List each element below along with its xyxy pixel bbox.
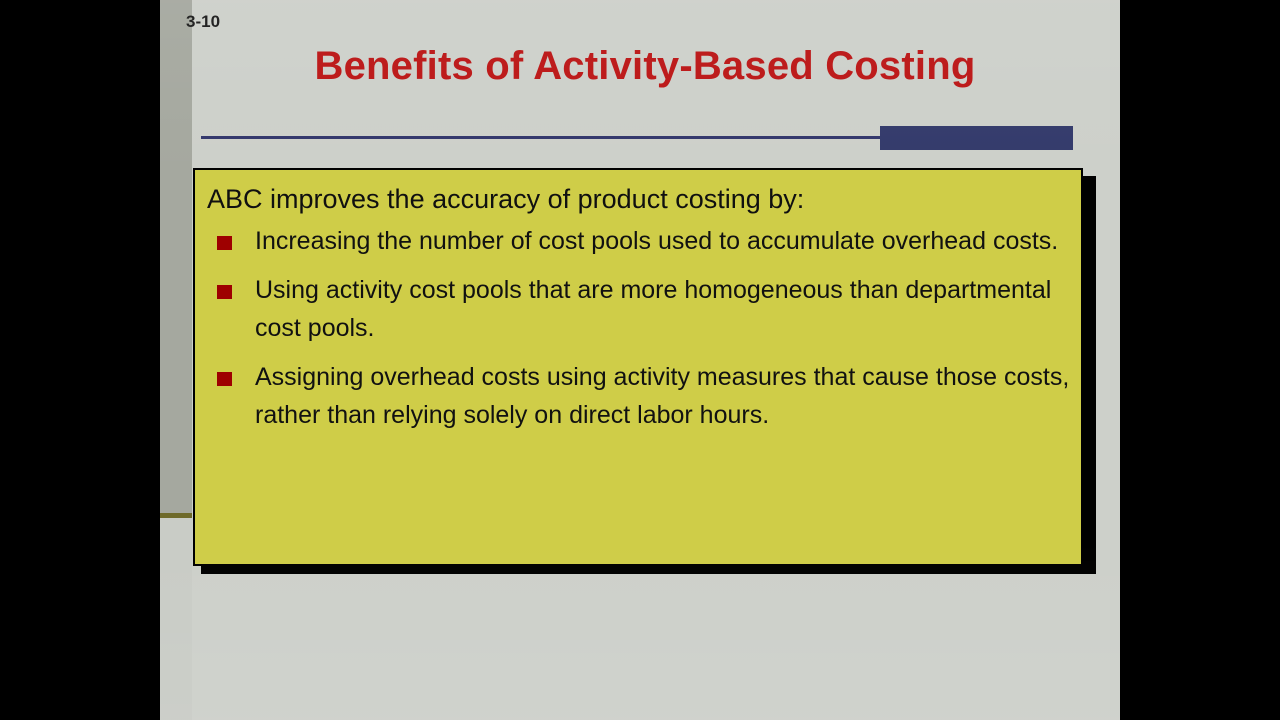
slide-canvas: 3-10 Benefits of Activity-Based Costing …	[160, 0, 1120, 720]
slide-number: 3-10	[186, 12, 220, 32]
list-item-text: Assigning overhead costs using activity …	[255, 358, 1073, 434]
list-item: Using activity cost pools that are more …	[205, 271, 1073, 347]
square-bullet-icon	[217, 372, 232, 386]
presentation-stage: 3-10 Benefits of Activity-Based Costing …	[0, 0, 1280, 720]
page-title: Benefits of Activity-Based Costing	[200, 44, 1090, 89]
square-bullet-icon	[217, 236, 232, 250]
content-heading: ABC improves the accuracy of product cos…	[205, 182, 1073, 216]
list-item: Increasing the number of cost pools used…	[205, 222, 1073, 260]
bullet-list: Increasing the number of cost pools used…	[205, 222, 1073, 434]
list-item: Assigning overhead costs using activity …	[205, 358, 1073, 434]
content-box: ABC improves the accuracy of product cos…	[193, 168, 1083, 566]
list-item-text: Using activity cost pools that are more …	[255, 271, 1073, 347]
square-bullet-icon	[217, 285, 232, 299]
left-accent-band	[160, 0, 192, 513]
list-item-text: Increasing the number of cost pools used…	[255, 222, 1073, 260]
left-band-lower-area	[160, 518, 192, 720]
content-box-inner: ABC improves the accuracy of product cos…	[195, 170, 1081, 564]
title-divider-accent-block	[880, 126, 1073, 150]
